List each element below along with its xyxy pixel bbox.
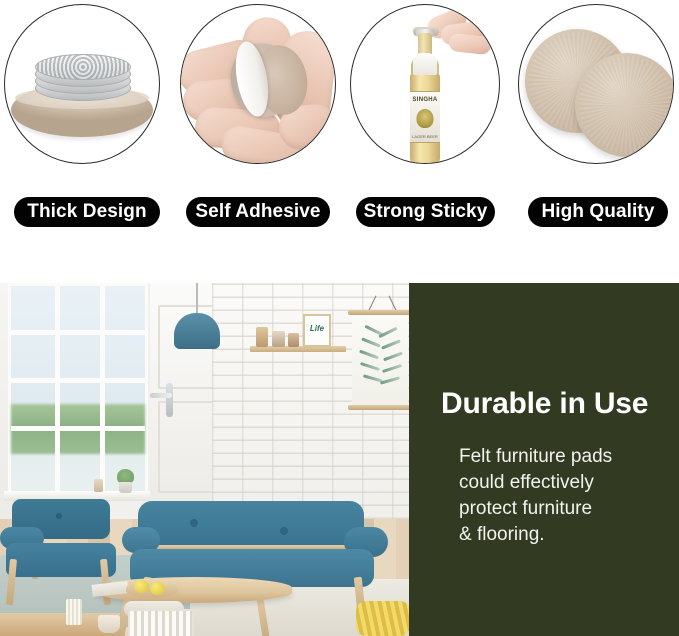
feature-label-self-adhesive: Self Adhesive: [186, 197, 330, 227]
living-room-photo: Life: [0, 283, 409, 636]
picture-frame-text: Life: [305, 324, 329, 333]
plant-pot: [119, 482, 132, 493]
yellow-pouf: [356, 601, 409, 636]
banner-body-line: Felt furniture pads: [459, 444, 673, 470]
sofa-backrest: [138, 501, 364, 547]
coin-stack: [35, 57, 131, 99]
green-text-panel: Durable in Use Felt furniture pads could…: [409, 283, 679, 636]
picture-frame: Life: [303, 314, 331, 347]
shelf-decor-jar: [272, 331, 285, 347]
banner-body: Felt furniture pads could effectively pr…: [459, 444, 673, 548]
window-mullion: [100, 286, 105, 495]
chair-button: [56, 513, 62, 519]
shelf-decor-jar: [256, 327, 268, 347]
window-sky: [11, 286, 145, 412]
bottle-crest-icon: [417, 109, 434, 128]
pillar-candle: [66, 599, 82, 625]
pendant-lamp-shade: [174, 313, 220, 349]
window-mullion: [11, 330, 145, 335]
bottle-sub-text: LAGER BEER: [410, 134, 440, 139]
two-felt-pads-icon: [518, 4, 674, 164]
pendant-lamp-cord: [196, 283, 198, 315]
felt-pad-shape: [575, 53, 674, 157]
window-mullion: [11, 426, 145, 431]
foreground-cup: [98, 615, 120, 633]
product-feature-image: SINGHA LAGER BEER Thick Design Self Ad: [0, 0, 679, 636]
fern-frond: [381, 339, 401, 349]
felt-pads-scene: [519, 5, 673, 163]
lemon: [150, 582, 165, 595]
lemon: [134, 580, 149, 593]
banner-body-line: & flooring.: [459, 522, 673, 548]
fern-frond: [380, 376, 400, 384]
sofa-button: [190, 519, 198, 527]
potted-plant: [116, 469, 134, 493]
fern-frond: [361, 337, 381, 347]
coin-top: [35, 54, 131, 80]
bottle-hanging-from-pad-icon: SINGHA LAGER BEER: [350, 4, 500, 164]
fern-frond: [383, 352, 403, 362]
door-handle-plate: [166, 383, 173, 417]
hand-peeling-adhesive-backing-icon: [180, 4, 336, 164]
sofa-button: [280, 527, 288, 535]
window-mullion: [11, 378, 145, 383]
woven-basket: [128, 609, 194, 636]
banner-body-line: could effectively: [459, 470, 673, 496]
finger: [448, 33, 492, 55]
fern-wall-art: [352, 315, 408, 407]
feature-label-strong-sticky: Strong Sticky: [356, 197, 495, 227]
window: [8, 283, 148, 498]
bottle-brand-text: SINGHA: [410, 97, 440, 103]
bottle-scene: SINGHA LAGER BEER: [351, 5, 499, 163]
coffee-table-leg: [257, 599, 271, 636]
feature-labels-row: Thick Design Self Adhesive Strong Sticky…: [0, 197, 679, 231]
beer-bottle: SINGHA LAGER BEER: [405, 33, 445, 164]
durable-in-use-banner: Life: [0, 283, 679, 636]
bottle-neck-label: [413, 53, 437, 75]
banner-body-line: protect furniture: [459, 496, 673, 522]
art-rod-bottom: [348, 405, 409, 410]
felt-pad-with-coin-stack-icon: [4, 4, 160, 164]
sill-jar: [94, 479, 103, 492]
feature-label-high-quality: High Quality: [528, 197, 668, 227]
bottle-label: SINGHA LAGER BEER: [410, 91, 440, 143]
banner-heading: Durable in Use: [441, 387, 671, 421]
fern-frond: [360, 362, 380, 371]
door-handle: [150, 393, 172, 398]
fern-frond: [382, 364, 402, 373]
window-mullion: [55, 286, 60, 495]
shelf-decor-jar: [288, 333, 299, 347]
fern-frond: [359, 350, 379, 360]
feature-label-thick-design: Thick Design: [14, 197, 160, 227]
hand-scene: [181, 5, 335, 163]
